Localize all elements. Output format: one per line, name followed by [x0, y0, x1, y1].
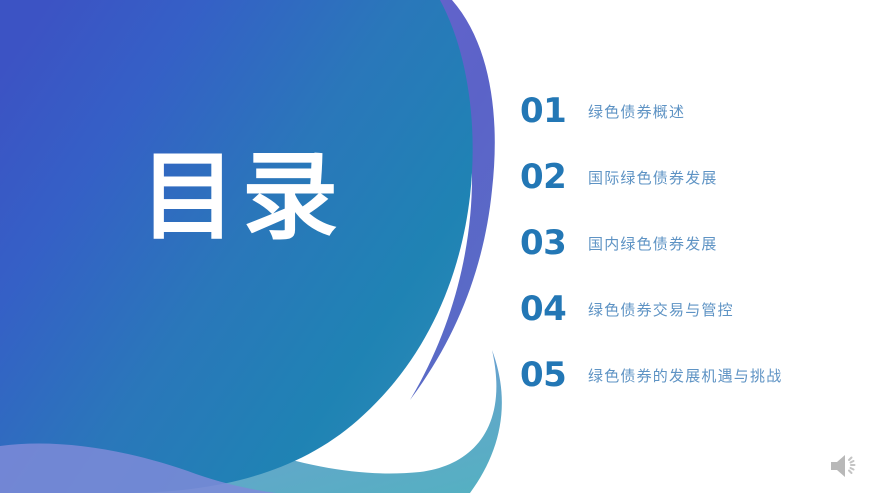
- page-title: 目录: [0, 148, 470, 248]
- agenda-item-05[interactable]: 05 绿色债券的发展机遇与挑战: [520, 342, 870, 408]
- agenda-item-number: 02: [520, 160, 588, 194]
- agenda-item-label: 绿色债券的发展机遇与挑战: [588, 365, 782, 386]
- agenda-item-label: 绿色债券概述: [588, 101, 685, 122]
- presentation-slide: 目录 01 绿色债券概述 02 国际绿色债券发展 03 国内绿色债券发展 04 …: [0, 0, 880, 493]
- blob-periwinkle-bottom-left: [0, 444, 276, 493]
- agenda-item-label: 国内绿色债券发展: [588, 233, 718, 254]
- agenda-item-03[interactable]: 03 国内绿色债券发展: [520, 210, 870, 276]
- blob-teal-top-left: [0, 0, 260, 152]
- blob-teal-bottom-crescent: [0, 350, 502, 493]
- page-title-text: 目录: [140, 148, 344, 248]
- agenda-item-number: 05: [520, 358, 588, 392]
- agenda-item-number: 01: [520, 94, 588, 128]
- agenda-item-label: 国际绿色债券发展: [588, 167, 718, 188]
- agenda-item-04[interactable]: 04 绿色债券交易与管控: [520, 276, 870, 342]
- agenda-item-01[interactable]: 01 绿色债券概述: [520, 78, 870, 144]
- agenda-item-number: 03: [520, 226, 588, 260]
- agenda-list: 01 绿色债券概述 02 国际绿色债券发展 03 国内绿色债券发展 04 绿色债…: [520, 78, 870, 408]
- agenda-item-number: 04: [520, 292, 588, 326]
- speaker-icon[interactable]: [828, 451, 862, 481]
- agenda-item-02[interactable]: 02 国际绿色债券发展: [520, 144, 870, 210]
- agenda-item-label: 绿色债券交易与管控: [588, 299, 734, 320]
